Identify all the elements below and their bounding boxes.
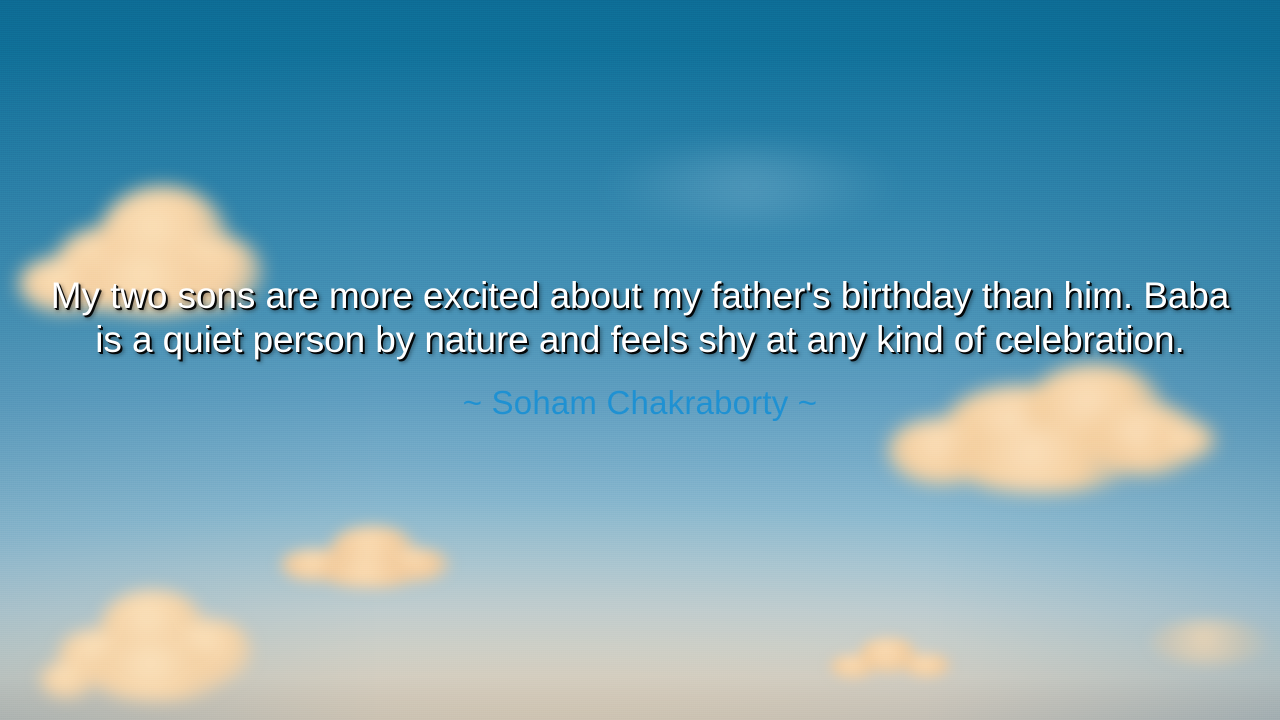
quote-author: ~ Soham Chakraborty ~ bbox=[44, 362, 1236, 422]
quote-block: My two sons are more excited about my fa… bbox=[0, 274, 1280, 422]
quote-image-canvas: My two sons are more excited about my fa… bbox=[0, 0, 1280, 720]
quote-text: My two sons are more excited about my fa… bbox=[44, 274, 1236, 362]
